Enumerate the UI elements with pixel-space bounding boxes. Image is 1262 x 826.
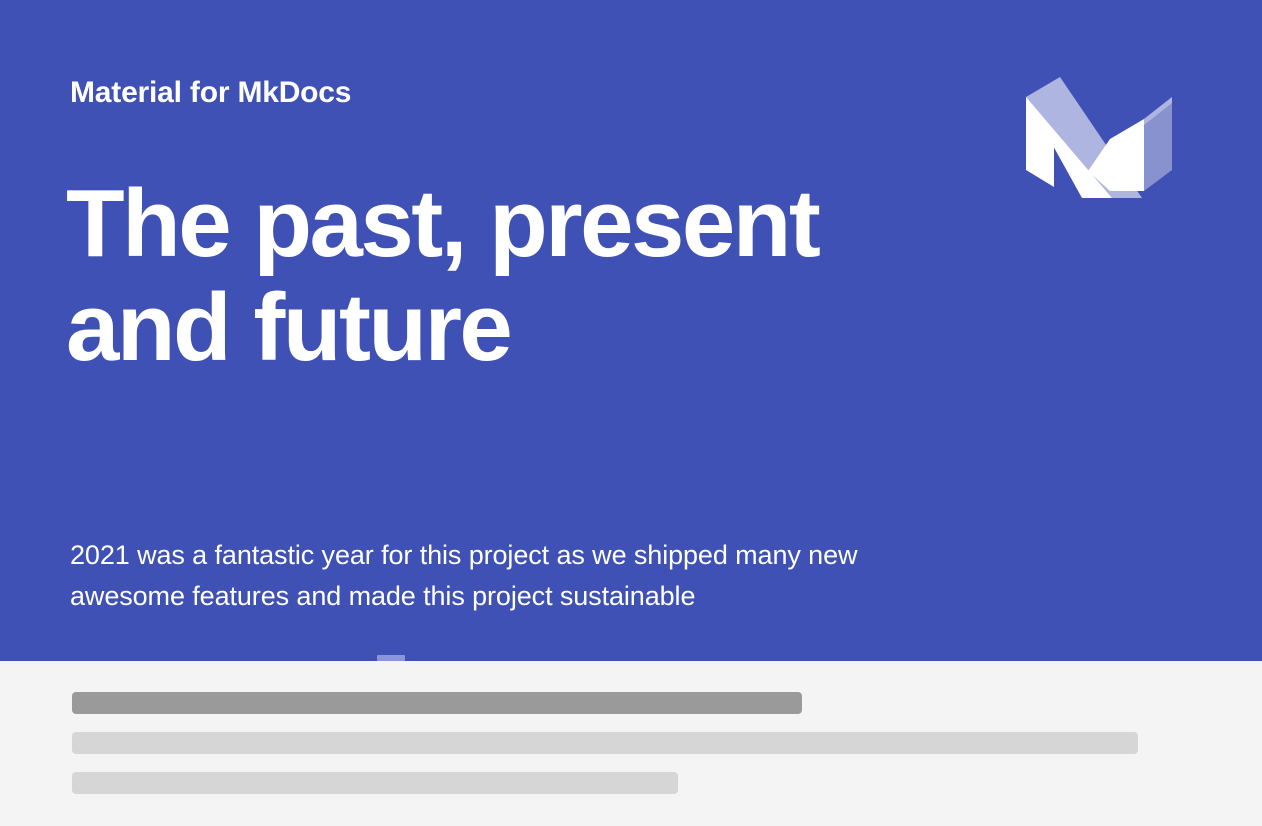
material-for-mkdocs-logo-icon xyxy=(1024,67,1174,201)
hero-banner: Material for MkDocs The past, present an… xyxy=(0,0,1262,661)
skeleton-bar-3 xyxy=(72,772,678,794)
hero-title: The past, present and future xyxy=(66,172,946,379)
hero-eyebrow-label: Material for MkDocs xyxy=(70,74,351,112)
presentation-slide: Material for MkDocs The past, present an… xyxy=(0,0,1262,826)
content-area xyxy=(0,661,1262,826)
skeleton-bar-2 xyxy=(72,732,1138,754)
hero-subtitle: 2021 was a fantastic year for this proje… xyxy=(70,535,970,617)
skeleton-bar-1 xyxy=(72,692,802,714)
